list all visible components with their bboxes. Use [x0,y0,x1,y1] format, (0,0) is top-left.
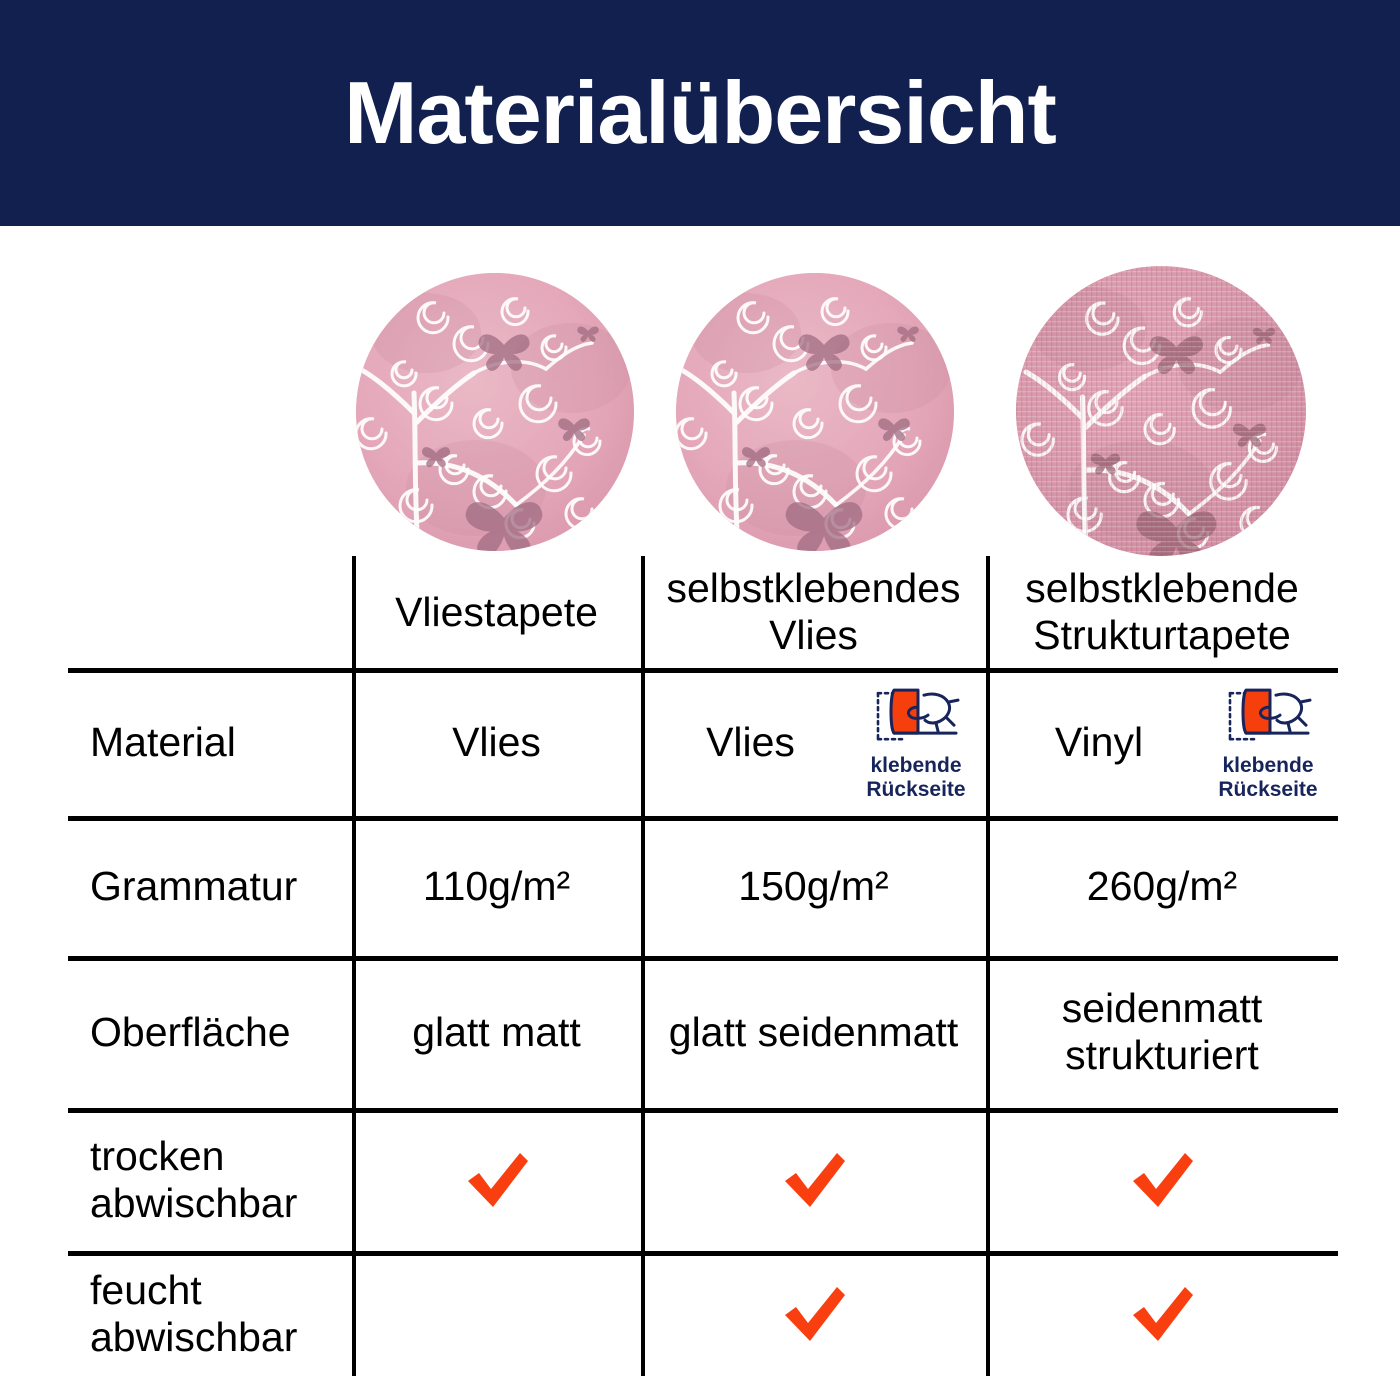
header-cell-vliestapete: Vliestapete [352,556,641,668]
cell-trocken-selbstklebendes-vlies [641,1108,986,1251]
wallpaper-pattern-textured-icon [1016,266,1306,556]
cell-oberflaeche-selbstklebende-strukturtapete: seidenmatt strukturiert [986,956,1338,1108]
header-cell-blank [68,556,352,668]
klebende-rueckseite-icon [868,681,964,751]
check-icon [462,1149,532,1211]
wallpaper-pattern-icon [676,273,954,551]
table-row: Oberfläche glatt matt glatt seidenmatt s… [68,956,1338,1108]
cell-grammatur-vliestapete: 110g/m² [352,816,641,956]
check-icon [779,1149,849,1211]
table-row: feucht abwischbar [68,1251,1338,1376]
check-icon [1127,1283,1197,1345]
check-icon [1127,1149,1197,1211]
cell-grammatur-selbstklebende-strukturtapete: 260g/m² [986,816,1338,956]
cell-material-vliestapete: Vlies [352,668,641,816]
swatch-vliestapete [356,273,634,551]
cell-grammatur-selbstklebendes-vlies: 150g/m² [641,816,986,956]
swatch-row [0,226,1400,556]
table-header-row: Vliestapete selbstklebendes Vlies selbst… [68,556,1338,668]
cell-feucht-selbstklebendes-vlies [641,1251,986,1376]
check-icon [779,1283,849,1345]
cell-material-selbstklebendes-vlies: Vlies klebendeRückseite [641,668,986,816]
cell-trocken-selbstklebende-strukturtapete [986,1108,1338,1251]
cell-value: Vlies [706,719,795,766]
cell-trocken-vliestapete [352,1108,641,1251]
header-cell-selbstklebende-strukturtapete: selbstklebende Strukturtapete [986,556,1338,668]
swatch-selbstklebendes-vlies [676,273,954,551]
wallpaper-pattern-icon [356,273,634,551]
cell-feucht-vliestapete [352,1251,641,1376]
table-row: Grammatur 110g/m² 150g/m² 260g/m² [68,816,1338,956]
row-label-grammatur: Grammatur [68,816,352,956]
row-label-feucht-abwischbar: feucht abwischbar [68,1251,352,1376]
swatch-selbstklebende-strukturtapete [1016,266,1306,556]
material-comparison-table: Vliestapete selbstklebendes Vlies selbst… [68,556,1338,1376]
row-label-trocken-abwischbar: trocken abwischbar [68,1108,352,1251]
row-label-material: Material [68,668,352,816]
cell-material-selbstklebende-strukturtapete: Vinyl klebendeRückseite [986,668,1338,816]
klebende-rueckseite-badge: klebendeRückseite [852,681,980,803]
header-band: Materialübersicht [0,0,1400,226]
header-cell-selbstklebendes-vlies: selbstklebendes Vlies [641,556,986,668]
page-title: Materialübersicht [344,69,1056,157]
row-label-oberflaeche: Oberfläche [68,956,352,1108]
cell-feucht-selbstklebende-strukturtapete [986,1251,1338,1376]
cell-oberflaeche-selbstklebendes-vlies: glatt seidenmatt [641,956,986,1108]
cell-value: Vinyl [1055,719,1143,766]
table-row: trocken abwischbar [68,1108,1338,1251]
cell-oberflaeche-vliestapete: glatt matt [352,956,641,1108]
klebende-rueckseite-label: klebendeRückseite [1218,754,1317,803]
klebende-rueckseite-label: klebendeRückseite [866,754,965,803]
klebende-rueckseite-icon [1220,681,1316,751]
klebende-rueckseite-badge: klebendeRückseite [1204,681,1332,803]
table-row: Material Vlies Vlies [68,668,1338,816]
